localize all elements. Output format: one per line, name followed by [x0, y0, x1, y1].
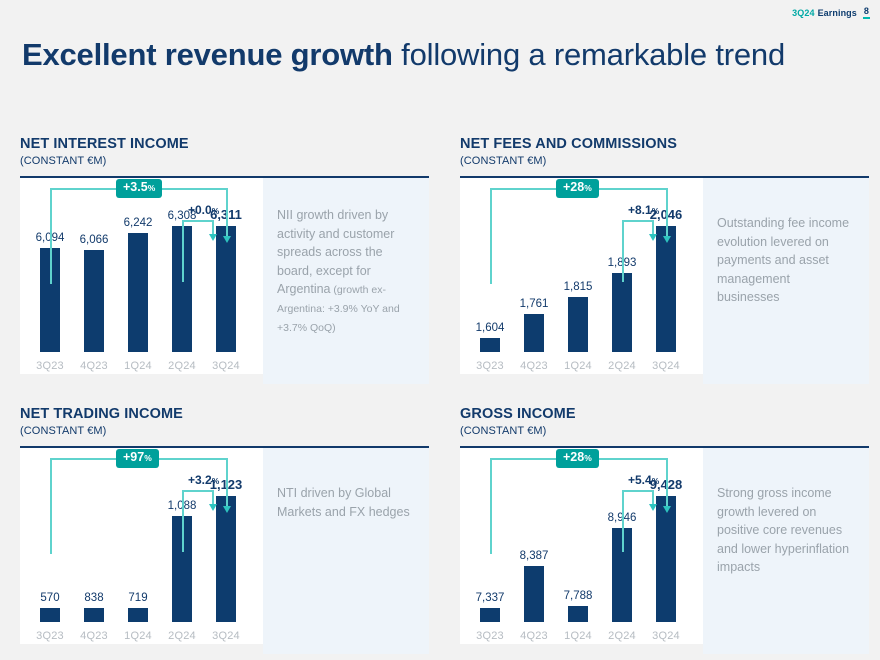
panel-body: 5703Q238384Q237191Q241,0882Q241,1233Q24+… [20, 446, 429, 654]
commentary-main: Strong gross income growth levered on po… [717, 486, 849, 574]
yoy-value: +28 [563, 180, 584, 194]
panel-body: 6,0943Q236,0664Q236,2421Q246,3082Q246,31… [20, 176, 429, 384]
percent-sign: % [148, 183, 156, 193]
yoy-bracket-left [50, 188, 52, 284]
header-label: Earnings [818, 8, 857, 18]
qoq-growth-label: +8.1% [628, 204, 659, 218]
percent-sign: % [584, 453, 592, 463]
page-title: Excellent revenue growth following a rem… [22, 36, 852, 74]
header-period: 3Q24 [792, 8, 814, 18]
panel-subtitle: (CONSTANT €M) [460, 424, 869, 438]
panel-net-fees-and-commissions: NET FEES AND COMMISSIONS(CONSTANT €M)1,6… [460, 136, 869, 384]
panel-title: NET TRADING INCOME [20, 406, 429, 423]
qoq-value: +3.2 [188, 473, 212, 487]
panel-subtitle: (CONSTANT €M) [460, 154, 869, 168]
qoq-bracket-left [622, 490, 624, 552]
commentary-text: Strong gross income growth levered on po… [703, 448, 869, 654]
panel-body: 1,6043Q231,7614Q231,8151Q241,8932Q242,04… [460, 176, 869, 384]
yoy-arrow-icon [223, 506, 231, 513]
slide-header: 3Q24 Earnings 8 [792, 6, 870, 19]
qoq-bracket-top [622, 220, 652, 222]
yoy-value: +28 [563, 450, 584, 464]
panel-title: NET FEES AND COMMISSIONS [460, 136, 869, 153]
qoq-value: +0.0 [188, 203, 212, 217]
qoq-arrow-icon [209, 504, 217, 511]
panel-body: 7,3373Q238,3874Q237,7881Q248,9462Q249,42… [460, 446, 869, 654]
qoq-bracket-left [182, 490, 184, 552]
panel-net-trading-income: NET TRADING INCOME(CONSTANT €M)5703Q2383… [20, 406, 429, 654]
qoq-value: +5.4 [628, 473, 652, 487]
qoq-bracket-top [182, 220, 212, 222]
yoy-value: +3.5 [123, 180, 148, 194]
qoq-bracket-top [622, 490, 652, 492]
qoq-growth-label: +0.0% [188, 204, 219, 218]
growth-annotations: +28%+8.1% [460, 178, 703, 374]
yoy-bracket-left [50, 458, 52, 554]
percent-sign: % [652, 476, 660, 486]
percent-sign: % [652, 206, 660, 216]
panel-title: NET INTEREST INCOME [20, 136, 429, 153]
yoy-bracket-right [666, 188, 668, 238]
panel-grid: NET INTEREST INCOME(CONSTANT €M)6,0943Q2… [0, 136, 880, 656]
yoy-arrow-icon [223, 236, 231, 243]
panel-gross-income: GROSS INCOME(CONSTANT €M)7,3373Q238,3874… [460, 406, 869, 654]
yoy-arrow-icon [663, 236, 671, 243]
page-title-rest: following a remarkable trend [393, 37, 785, 72]
panel-subtitle: (CONSTANT €M) [20, 154, 429, 168]
yoy-bracket-left [490, 458, 492, 554]
yoy-growth-badge: +28% [556, 449, 599, 468]
qoq-value: +8.1 [628, 203, 652, 217]
qoq-bracket-top [182, 490, 212, 492]
panel-title: GROSS INCOME [460, 406, 869, 423]
yoy-arrow-icon [663, 506, 671, 513]
qoq-growth-label: +3.2% [188, 474, 219, 488]
yoy-growth-badge: +28% [556, 179, 599, 198]
page-title-strong: Excellent revenue growth [22, 37, 393, 72]
commentary-main: NTI driven by Global Markets and FX hedg… [277, 486, 410, 519]
percent-sign: % [212, 206, 220, 216]
yoy-value: +97 [123, 450, 144, 464]
commentary-text: Outstanding fee income evolution levered… [703, 178, 869, 384]
qoq-arrow-icon [209, 234, 217, 241]
yoy-growth-badge: +3.5% [116, 179, 162, 198]
commentary-main: NII growth driven by activity and custom… [277, 208, 394, 296]
percent-sign: % [144, 453, 152, 463]
growth-annotations: +97%+3.2% [20, 448, 263, 644]
page-number: 8 [863, 6, 870, 19]
growth-annotations: +3.5%+0.0% [20, 178, 263, 374]
yoy-bracket-left [490, 188, 492, 284]
percent-sign: % [212, 476, 220, 486]
commentary-text: NTI driven by Global Markets and FX hedg… [263, 448, 429, 654]
commentary-text: NII growth driven by activity and custom… [263, 178, 429, 384]
percent-sign: % [584, 183, 592, 193]
bar-chart: 5703Q238384Q237191Q241,0882Q241,1233Q24+… [20, 448, 263, 644]
growth-annotations: +28%+5.4% [460, 448, 703, 644]
qoq-arrow-icon [649, 504, 657, 511]
yoy-bracket-right [226, 188, 228, 238]
yoy-bracket-right [666, 458, 668, 508]
qoq-bracket-left [182, 220, 184, 282]
qoq-bracket-left [622, 220, 624, 282]
qoq-arrow-icon [649, 234, 657, 241]
panel-subtitle: (CONSTANT €M) [20, 424, 429, 438]
yoy-growth-badge: +97% [116, 449, 159, 468]
bar-chart: 6,0943Q236,0664Q236,2421Q246,3082Q246,31… [20, 178, 263, 374]
yoy-bracket-right [226, 458, 228, 508]
panel-net-interest-income: NET INTEREST INCOME(CONSTANT €M)6,0943Q2… [20, 136, 429, 384]
commentary-main: Outstanding fee income evolution levered… [717, 216, 849, 304]
qoq-growth-label: +5.4% [628, 474, 659, 488]
bar-chart: 1,6043Q231,7614Q231,8151Q241,8932Q242,04… [460, 178, 703, 374]
bar-chart: 7,3373Q238,3874Q237,7881Q248,9462Q249,42… [460, 448, 703, 644]
